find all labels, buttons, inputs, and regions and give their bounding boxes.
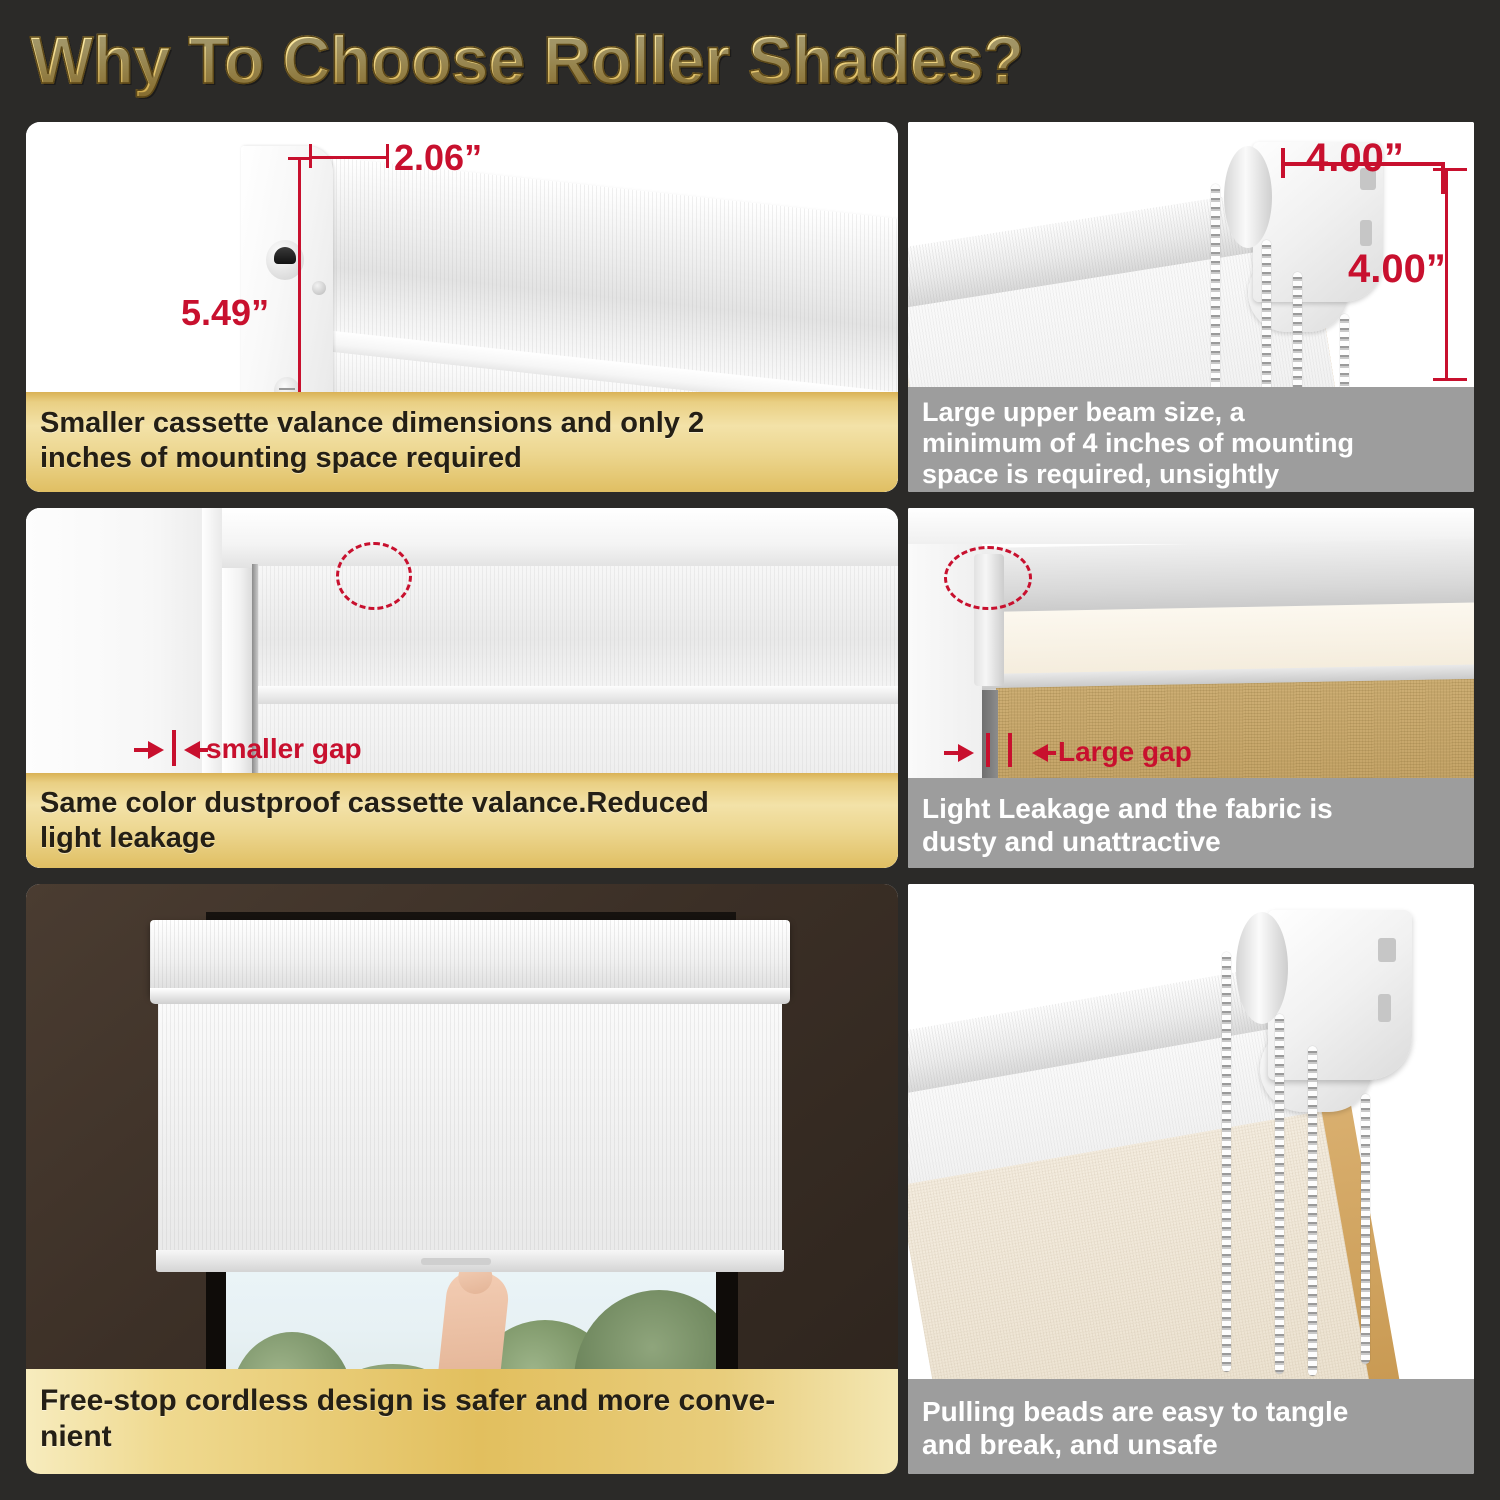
caption-line: nient — [40, 1419, 884, 1455]
width-tick-left — [309, 144, 312, 168]
panel-light-leakage: Large gap Light Leakage and the fabric i… — [908, 508, 1474, 868]
highlight-circle-icon — [336, 542, 412, 610]
page-title: Why To Choose Roller Shades? — [30, 22, 1230, 100]
gap-label: Large gap — [1058, 736, 1192, 768]
panel-caption: Smaller cassette valance dimensions and … — [26, 392, 898, 492]
roller-end — [1224, 146, 1272, 248]
caption-line: minimum of 4 inches of mounting — [922, 428, 1460, 459]
panel-smaller-gap: smaller gap Same color dustproof cassett… — [26, 508, 898, 868]
caption-line: Large upper beam size, a — [922, 397, 1460, 428]
caption-line: space is required, unsightly — [922, 459, 1460, 490]
gap-arrow-tail-right — [1046, 751, 1056, 755]
caption-line: and break, and unsafe — [922, 1428, 1460, 1461]
width-dimension-label: 4.00” — [1306, 136, 1404, 181]
gap-measure-bar — [1008, 733, 1012, 767]
panel-caption: Large upper beam size, a minimum of 4 in… — [908, 387, 1474, 492]
bracket-slot — [1378, 994, 1391, 1022]
bracket-slot — [1360, 220, 1372, 246]
caption-line: Free-stop cordless design is safer and m… — [40, 1383, 884, 1419]
panel-caption: Free-stop cordless design is safer and m… — [26, 1369, 898, 1474]
height-tick-top — [288, 157, 312, 160]
panel-pulling-beads: Pulling beads are easy to tangle and bre… — [908, 884, 1474, 1474]
bracket-slot — [1378, 938, 1396, 962]
shade-grip-handle — [421, 1258, 491, 1265]
gap-measure-bar — [986, 733, 990, 767]
height-tick-top — [1433, 168, 1467, 171]
bead-chain — [1308, 1046, 1317, 1376]
width-tick-right — [386, 144, 389, 168]
caption-line: dusty and unattractive — [922, 825, 1460, 858]
height-dimension-label: 5.49” — [181, 292, 269, 334]
height-tick-bottom — [1433, 378, 1467, 381]
gap-measure-bar — [172, 730, 176, 766]
bead-chain — [1222, 952, 1231, 1372]
headrail-lip — [150, 988, 790, 1004]
gap-label: smaller gap — [206, 733, 362, 765]
height-dimension-label: 4.00” — [1348, 247, 1446, 292]
bead-chain — [1275, 1014, 1284, 1374]
width-dimension-label: 2.06” — [394, 137, 482, 179]
caption-line: light leakage — [40, 821, 884, 856]
width-dimension-line — [311, 156, 389, 159]
cassette-rail — [254, 686, 898, 706]
caption-line: Pulling beads are easy to tangle — [922, 1395, 1460, 1428]
caption-line: Same color dustproof cassette valance.Re… — [40, 786, 884, 821]
bead-chain — [1361, 1094, 1370, 1364]
width-tick-left — [1281, 148, 1285, 178]
panel-cordless-design: Free-stop cordless design is safer and m… — [26, 884, 898, 1474]
panel-caption: Pulling beads are easy to tangle and bre… — [908, 1379, 1474, 1474]
window-header — [222, 508, 898, 568]
highlight-circle-icon — [944, 546, 1032, 610]
roller-end — [1236, 912, 1288, 1024]
cassette-headrail — [150, 920, 790, 996]
infographic-root: Why To Choose Roller Shades? 2.06” 5.49”… — [0, 0, 1500, 1500]
cassette-screw-small — [312, 281, 326, 295]
shade-fabric — [158, 1004, 782, 1256]
gap-arrow-right-icon — [148, 741, 164, 759]
panel-caption: Same color dustproof cassette valance.Re… — [26, 773, 898, 868]
panel-smaller-cassette: 2.06” 5.49” Smaller cassette valance dim… — [26, 122, 898, 492]
caption-line: Light Leakage and the fabric is — [922, 792, 1460, 825]
panel-caption: Light Leakage and the fabric is dusty an… — [908, 778, 1474, 868]
gap-arrow-right-icon — [958, 744, 974, 762]
panel-large-upper-beam: 4.00” 4.00” Large upper beam size, a min… — [908, 122, 1474, 492]
caption-line: inches of mounting space required — [40, 441, 884, 476]
caption-line: Smaller cassette valance dimensions and … — [40, 406, 884, 441]
window-header — [908, 508, 1474, 544]
